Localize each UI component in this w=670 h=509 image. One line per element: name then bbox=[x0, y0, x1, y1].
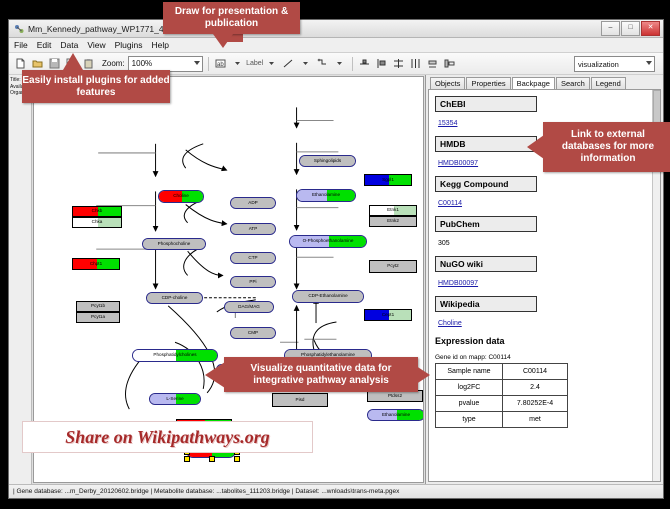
distribute-vertical-icon[interactable] bbox=[392, 57, 406, 71]
callout-plugins-text: Easily install plugins for added feature… bbox=[22, 75, 170, 99]
callout-links: Link to external databases for more info… bbox=[543, 122, 670, 172]
gene-node-pisd[interactable]: Pisd bbox=[272, 393, 328, 407]
tab-properties[interactable]: Properties bbox=[466, 77, 510, 89]
callout-draw-arrow-icon bbox=[213, 34, 233, 48]
menu-item-plugins[interactable]: Plugins bbox=[114, 40, 144, 50]
callout-visualize-arrow-left-icon bbox=[205, 362, 225, 388]
metabolite-node-cmp[interactable]: CMP bbox=[230, 327, 276, 339]
node-label: Phosphatidylcholines bbox=[153, 353, 196, 358]
database-name: PubChem bbox=[435, 216, 537, 232]
pathvisio-icon bbox=[14, 24, 24, 34]
toolbar-separator bbox=[208, 57, 209, 71]
node-label: Pcyt2 bbox=[387, 264, 399, 269]
database-block: PubChem305 bbox=[435, 216, 660, 250]
metabolite-node-ethanolamine[interactable]: Ethanolamine bbox=[367, 409, 424, 421]
expression-data-heading: Expression data bbox=[435, 336, 660, 346]
database-name: NuGO wiki bbox=[435, 256, 537, 272]
zoom-value: 100% bbox=[132, 59, 152, 68]
database-name: Kegg Compound bbox=[435, 176, 537, 192]
tab-search[interactable]: Search bbox=[556, 77, 590, 89]
expr-value: 7.80252E-4 bbox=[503, 396, 568, 412]
metabolite-node-phosphocholine[interactable]: Phosphocholine bbox=[142, 238, 206, 250]
database-link[interactable]: HMDB00097 bbox=[438, 160, 478, 167]
node-label: Phosphocholine bbox=[158, 242, 191, 247]
window-controls: – □ ✕ bbox=[601, 21, 660, 36]
callout-links-arrow-icon bbox=[527, 135, 544, 159]
svg-text:ab: ab bbox=[217, 62, 224, 68]
database-block: NuGO wikiHMDB00097 bbox=[435, 256, 660, 290]
node-label: Sgpl1 bbox=[382, 178, 394, 183]
gene-node-etnk2[interactable]: Etnk2 bbox=[369, 216, 417, 227]
save-icon[interactable] bbox=[47, 57, 61, 71]
node-label: DAG/MAG bbox=[238, 305, 260, 310]
node-label: ATP bbox=[249, 227, 258, 232]
metabolite-node-sphingolipids[interactable]: Sphingolipids bbox=[299, 155, 356, 167]
tab-legend[interactable]: Legend bbox=[591, 77, 626, 89]
metabolite-node-phosphatidylcholines[interactable]: Phosphatidylcholines bbox=[132, 349, 218, 362]
menu-item-data[interactable]: Data bbox=[59, 40, 79, 50]
node-label: PPi bbox=[249, 280, 256, 285]
database-link[interactable]: 15354 bbox=[438, 120, 457, 127]
metabolite-node-l-serine[interactable]: L-Serine bbox=[149, 393, 201, 405]
visualization-select[interactable]: visualization bbox=[574, 56, 655, 72]
node-label: Etnk1 bbox=[387, 208, 399, 213]
gene-node-etnk1[interactable]: Etnk1 bbox=[369, 205, 417, 216]
align-left-icon[interactable] bbox=[375, 57, 389, 71]
selection-handle[interactable] bbox=[234, 456, 240, 462]
database-name: HMDB bbox=[435, 136, 537, 152]
metabolite-node-cdp-choline[interactable]: CDP-choline bbox=[146, 292, 203, 304]
metabolite-node-atp[interactable]: ATP bbox=[230, 223, 276, 235]
selection-handle[interactable] bbox=[184, 456, 190, 462]
node-label: Chkb bbox=[92, 209, 103, 214]
node-label: Pcyt1a bbox=[91, 315, 105, 320]
callout-draw-text: Draw for presentation & publication bbox=[163, 6, 300, 30]
table-row: log2FC2.4 bbox=[436, 380, 568, 396]
gene-node-pcyt1a[interactable]: Pcyt1a bbox=[76, 312, 120, 323]
label-tool-dropdown[interactable] bbox=[265, 57, 279, 71]
zoom-label: Zoom: bbox=[102, 59, 125, 68]
new-file-icon[interactable] bbox=[13, 57, 27, 71]
database-block: WikipediaCholine bbox=[435, 296, 660, 330]
database-value: 305 bbox=[438, 240, 450, 247]
maximize-button[interactable]: □ bbox=[621, 21, 640, 36]
status-bar: | Gene database: ...m_Derby_20120602.bri… bbox=[9, 484, 663, 498]
expr-value: met bbox=[503, 412, 568, 428]
gene-id-line: Gene id on mapp: C00114 bbox=[435, 354, 660, 361]
metabolite-node-choline[interactable]: Choline bbox=[158, 190, 204, 203]
node-label: Pcyt1b bbox=[91, 304, 105, 309]
node-label: CTP bbox=[248, 256, 257, 261]
menu-item-help[interactable]: Help bbox=[151, 40, 170, 50]
callout-links-text: Link to external databases for more info… bbox=[547, 129, 669, 165]
metabolite-node-o-phosphoethanolamine[interactable]: O-Phosphoethanolamine bbox=[289, 235, 367, 248]
expr-key: Sample name bbox=[436, 364, 503, 380]
callout-draw: Draw for presentation & publication bbox=[163, 2, 300, 34]
callout-visualize-arrow-right-icon bbox=[410, 362, 430, 388]
node-label: Pisd bbox=[296, 398, 305, 403]
label-dropdown[interactable] bbox=[231, 57, 245, 71]
node-label: O-Phosphoethanolamine bbox=[303, 239, 354, 244]
gene-node-chkb[interactable]: Chkb bbox=[72, 206, 122, 217]
screenshot-root: Mm_Kennedy_pathway_WP1771_45176.gpml – □… bbox=[0, 0, 670, 509]
chevron-down-icon bbox=[194, 61, 200, 65]
open-folder-icon[interactable] bbox=[30, 57, 44, 71]
metabolite-node-ppi[interactable]: PPi bbox=[230, 276, 276, 288]
paste-icon[interactable] bbox=[81, 57, 95, 71]
chevron-down-icon-2 bbox=[646, 61, 652, 65]
selection-handle[interactable] bbox=[209, 456, 215, 462]
callout-visualize-text: Visualize quantitative data for integrat… bbox=[228, 363, 414, 387]
table-row: typemet bbox=[436, 412, 568, 428]
node-label: L-Serine bbox=[166, 397, 183, 402]
expr-key: type bbox=[436, 412, 503, 428]
minimize-button[interactable]: – bbox=[601, 21, 620, 36]
gene-node-cept1[interactable]: Cept1 bbox=[364, 309, 412, 321]
title-bar: Mm_Kennedy_pathway_WP1771_45176.gpml – □… bbox=[9, 20, 663, 38]
callout-visualize: Visualize quantitative data for integrat… bbox=[224, 357, 418, 392]
node-label: Chka bbox=[92, 220, 103, 225]
gene-node-pcyt1b[interactable]: Pcyt1b bbox=[76, 301, 120, 312]
node-label: Ptdss2 bbox=[388, 394, 402, 399]
text-label-icon[interactable]: ab bbox=[214, 57, 228, 71]
node-label: Choline bbox=[173, 194, 189, 199]
connector-dropdown[interactable] bbox=[333, 57, 347, 71]
menu-item-edit[interactable]: Edit bbox=[36, 40, 53, 50]
line-icon[interactable] bbox=[282, 57, 296, 71]
metabolite-node-cdp-ethanolamine[interactable]: CDP-Ethanolamine bbox=[292, 290, 364, 303]
menu-bar: File Edit Data View Plugins Help bbox=[9, 38, 663, 53]
distribute-horizontal-icon[interactable] bbox=[409, 57, 423, 71]
order-icon[interactable] bbox=[443, 57, 457, 71]
status-text: | Gene database: ...m_Derby_20120602.bri… bbox=[13, 488, 399, 495]
database-link[interactable]: Choline bbox=[438, 320, 462, 327]
menu-item-file[interactable]: File bbox=[13, 40, 29, 50]
table-row: Sample nameC00114 bbox=[436, 364, 568, 380]
gene-node-sgpl1[interactable]: Sgpl1 bbox=[364, 174, 412, 186]
tab-objects[interactable]: Objects bbox=[430, 77, 465, 89]
node-label: Chpt1 bbox=[90, 262, 102, 267]
connector-icon[interactable] bbox=[316, 57, 330, 71]
node-label: CDP-choline bbox=[162, 296, 188, 301]
expression-table: Sample nameC00114log2FC2.4pvalue7.80252E… bbox=[435, 363, 568, 428]
database-name: ChEBI bbox=[435, 96, 537, 112]
callout-share: Share on Wikipathways.org bbox=[22, 421, 313, 453]
close-button[interactable]: ✕ bbox=[641, 21, 660, 36]
label-tool-text[interactable]: Label bbox=[248, 57, 262, 71]
gene-node-chpt1[interactable]: Chpt1 bbox=[72, 258, 120, 270]
gene-node-pcyt2[interactable]: Pcyt2 bbox=[369, 260, 417, 273]
expr-key: log2FC bbox=[436, 380, 503, 396]
node-label: Etnk2 bbox=[387, 219, 399, 224]
node-label: ADP bbox=[248, 201, 257, 206]
database-link[interactable]: HMDB00097 bbox=[438, 280, 478, 287]
database-name: Wikipedia bbox=[435, 296, 537, 312]
expr-value: C00114 bbox=[503, 364, 568, 380]
panel-tabs: ObjectsPropertiesBackpageSearchLegend bbox=[426, 75, 663, 89]
menu-item-view[interactable]: View bbox=[86, 40, 106, 50]
node-label: Ethanolamine bbox=[312, 193, 340, 198]
node-label: CDP-Ethanolamine bbox=[308, 294, 347, 299]
expr-value: 2.4 bbox=[503, 380, 568, 396]
node-label: CMP bbox=[248, 331, 258, 336]
metabolite-node-ctp[interactable]: CTP bbox=[230, 252, 276, 264]
gene-node-chka[interactable]: Chka bbox=[72, 217, 122, 228]
database-link[interactable]: C00114 bbox=[438, 200, 462, 207]
expr-key: pvalue bbox=[436, 396, 503, 412]
table-row: pvalue7.80252E-4 bbox=[436, 396, 568, 412]
toolbar-separator-2 bbox=[352, 57, 353, 71]
node-label: Ethanolamine bbox=[382, 413, 410, 418]
callout-plugins-arrow-icon bbox=[63, 53, 83, 70]
node-label: Cept1 bbox=[382, 313, 394, 318]
metabolite-node-dag-mag[interactable]: DAG/MAG bbox=[224, 301, 274, 313]
visualization-value: visualization bbox=[578, 60, 619, 69]
stack-icon[interactable] bbox=[426, 57, 440, 71]
line-dropdown[interactable] bbox=[299, 57, 313, 71]
callout-plugins: Easily install plugins for added feature… bbox=[22, 70, 170, 103]
metabolite-node-adp[interactable]: ADP bbox=[230, 197, 276, 209]
callout-share-text: Share on Wikipathways.org bbox=[65, 427, 270, 448]
node-label: Sphingolipids bbox=[314, 159, 341, 164]
database-block: Kegg CompoundC00114 bbox=[435, 176, 660, 210]
metabolite-node-ethanolamine[interactable]: Ethanolamine bbox=[296, 189, 356, 202]
align-center-icon[interactable] bbox=[358, 57, 372, 71]
